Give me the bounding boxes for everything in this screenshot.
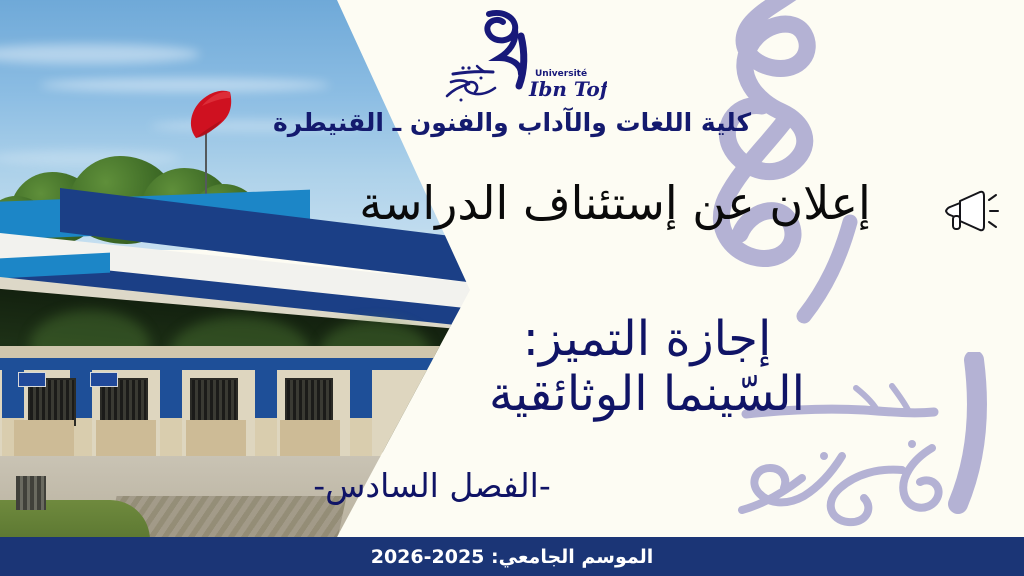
footer-bar: الموسم الجامعي: 2025-2026 [0, 537, 1024, 576]
headline-line-2: الدراسة [359, 176, 508, 230]
program-title: إجازة التميز: السّينما الوثائقية [300, 312, 994, 421]
program-title-line-2: السّينما الوثائقية [300, 367, 994, 422]
window-sill-brick [96, 420, 156, 458]
faculty-name: كلية اللغات والآداب والفنون ـ القنيطرة [0, 108, 1024, 137]
svg-text:Ibn Tofail: Ibn Tofail [528, 77, 607, 101]
pillar-base [350, 418, 372, 458]
door-plaque [90, 372, 118, 387]
bench [16, 476, 46, 510]
headline-row: إعلان عن إستئناف الدراسة [300, 178, 1002, 238]
program-title-line-1: إجازة التميز: [300, 312, 994, 367]
headline-line-1: إعلان عن إستئناف [523, 176, 871, 230]
megaphone-icon [940, 186, 1002, 238]
window-sill-brick [14, 420, 74, 458]
door-plaque [18, 372, 46, 387]
poster-canvas: Université Ibn Tofail كلية اللغات والآدا… [0, 0, 1024, 576]
pillar-base [255, 418, 277, 458]
academic-year-label: الموسم الجامعي: 2025-2026 [371, 546, 654, 568]
ibn-tofail-university-logo: Université Ibn Tofail [417, 8, 607, 108]
headline: إعلان عن إستئناف الدراسة [300, 178, 930, 230]
window-sill-brick [186, 420, 246, 458]
window-sill-brick [280, 420, 340, 458]
semester-label: -الفصل السادس- [170, 466, 694, 505]
pillar-base [160, 418, 182, 458]
annex-window [190, 378, 238, 426]
